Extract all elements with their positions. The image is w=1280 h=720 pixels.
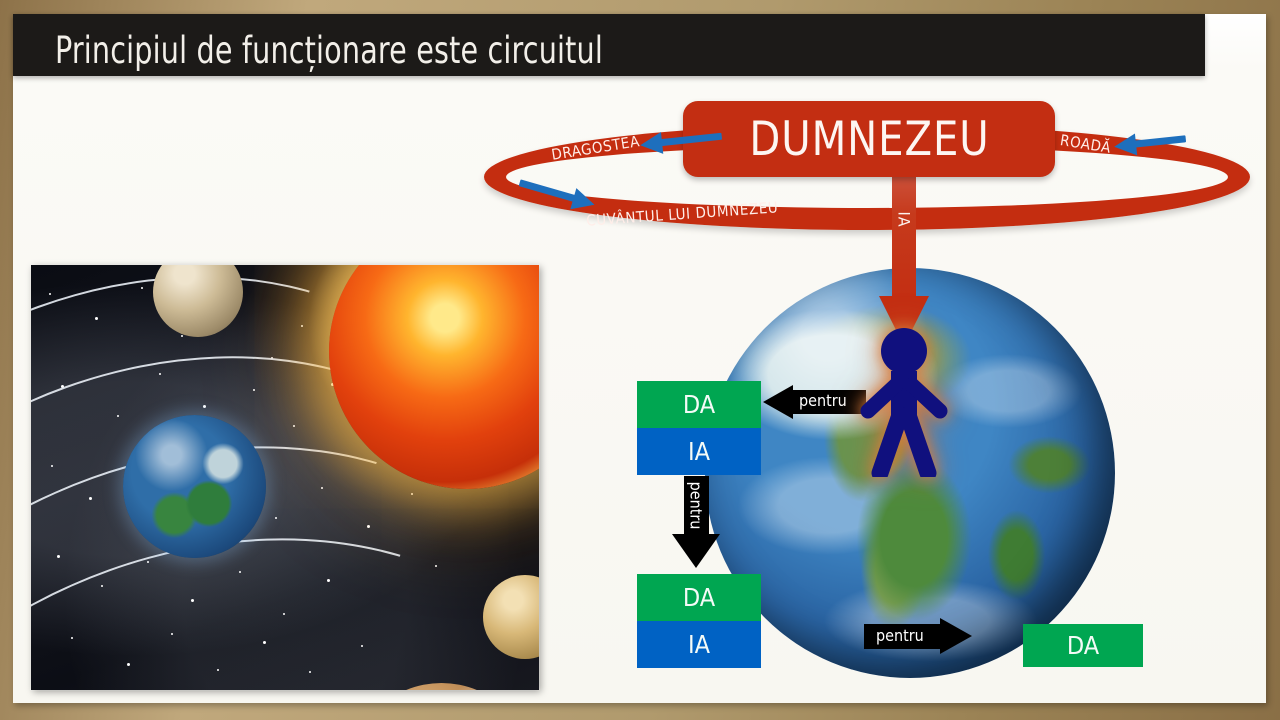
dumnezeu-box[interactable]: DUMNEZEU bbox=[683, 101, 1055, 177]
arrow-label: pentru bbox=[876, 626, 924, 645]
black-arrow-pentru-left: pentru bbox=[763, 385, 866, 418]
ia-label: IA bbox=[637, 621, 761, 668]
da-ia-box-lower[interactable]: DA IA bbox=[637, 574, 761, 668]
arrow-head bbox=[940, 618, 972, 654]
ia-label: IA bbox=[637, 428, 761, 475]
black-arrow-pentru-right: pentru bbox=[864, 618, 972, 654]
page-title: Principiul de funcționare este circuitul bbox=[55, 29, 603, 72]
planet-earth bbox=[123, 415, 266, 558]
arrow-label: pentru bbox=[799, 391, 847, 410]
person-icon bbox=[858, 327, 950, 477]
arrow-head bbox=[672, 534, 720, 568]
solar-system-picture bbox=[31, 265, 539, 690]
da-box-standalone[interactable]: DA bbox=[1023, 624, 1143, 667]
slide-canvas: Principiul de funcționare este circuitul bbox=[0, 0, 1280, 720]
da-label: DA bbox=[637, 381, 761, 428]
black-arrow-pentru-down: pentru bbox=[678, 476, 720, 569]
slide-title-bar: Principiul de funcționare este circuitul bbox=[13, 14, 1205, 76]
arrow-label: pentru bbox=[686, 482, 705, 530]
da-label: DA bbox=[637, 574, 761, 621]
arrow-head bbox=[763, 385, 793, 419]
dumnezeu-label: DUMNEZEU bbox=[749, 112, 989, 167]
red-down-arrow-ia: IA bbox=[884, 168, 924, 346]
red-arrow-label: IA bbox=[895, 198, 914, 242]
person-figure bbox=[858, 327, 950, 477]
da-ia-box-upper[interactable]: DA IA bbox=[637, 381, 761, 475]
